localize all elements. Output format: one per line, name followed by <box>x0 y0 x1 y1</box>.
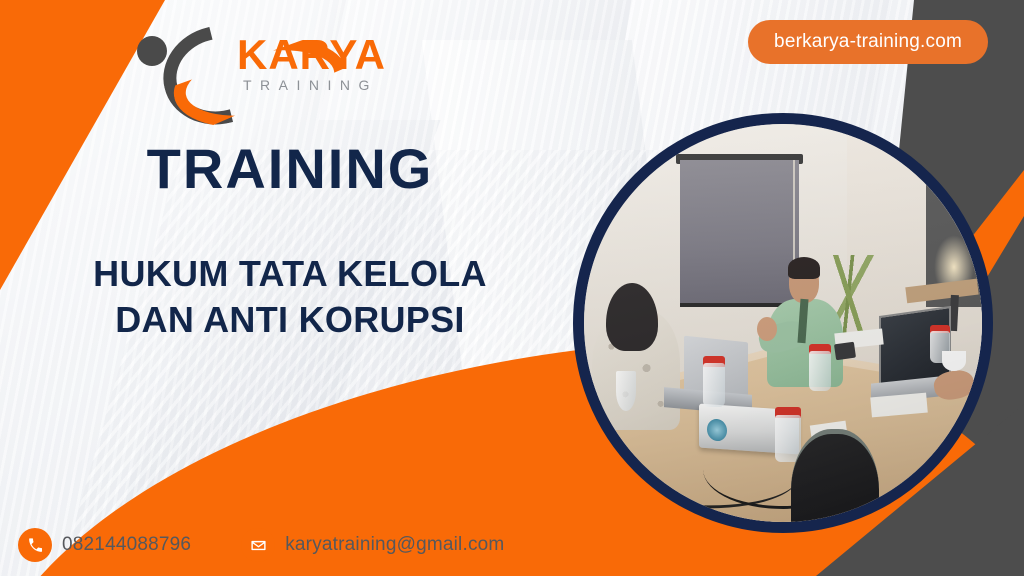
logo-wordmark: KARYA <box>237 34 386 76</box>
envelope-icon <box>241 528 275 562</box>
logo-subtext: TRAINING <box>243 78 378 92</box>
contact-phone[interactable]: 082144088796 <box>18 528 191 562</box>
logo-dot-icon <box>137 36 167 66</box>
contact-phone-number: 082144088796 <box>62 534 191 556</box>
phone-icon <box>18 528 52 562</box>
contact-email-address: karyatraining@gmail.com <box>285 534 504 556</box>
photo-shading-overlay <box>584 124 982 522</box>
promotional-banner: KARYA TRAINING berkarya-training.com TRA… <box>0 0 1024 576</box>
headline-block: TRAINING HUKUM TATA KELOLA DAN ANTI KORU… <box>0 140 580 343</box>
headline-subtitle: HUKUM TATA KELOLA DAN ANTI KORUPSI <box>0 251 580 343</box>
contact-bar: 082144088796 karyatraining@gmail.com <box>18 528 504 562</box>
headline-subtitle-line2: DAN ANTI KORUPSI <box>0 297 580 343</box>
headline-subtitle-line1: HUKUM TATA KELOLA <box>0 251 580 297</box>
training-photo <box>573 113 993 533</box>
karya-training-logo: KARYA TRAINING <box>133 18 373 96</box>
website-url-badge[interactable]: berkarya-training.com <box>748 20 988 64</box>
contact-email[interactable]: karyatraining@gmail.com <box>241 528 504 562</box>
page-title: TRAINING <box>0 140 580 199</box>
